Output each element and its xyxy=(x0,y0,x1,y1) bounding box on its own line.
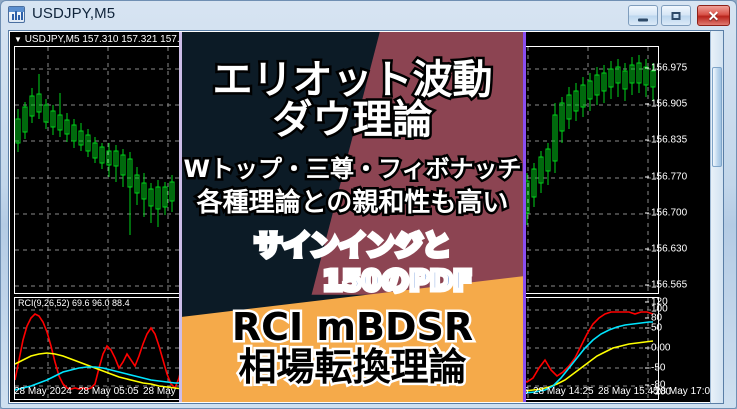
overlay-headline-1: エリオット波動 xyxy=(182,60,523,100)
candlestick-series xyxy=(16,74,174,235)
title-bar: USDJPY,M5 ✕ xyxy=(1,1,736,30)
promo-overlay-panel: エリオット波動 ダウ理論 Wトップ・三尊・フィボナッチ 各種理論との親和性も高い… xyxy=(179,32,526,402)
close-button[interactable]: ✕ xyxy=(697,5,730,26)
maximize-icon xyxy=(672,12,681,20)
overlay-cyan-text: サインインジと xyxy=(182,232,523,260)
close-icon: ✕ xyxy=(708,9,720,23)
overlay-blue-text: 150のPDF xyxy=(182,267,523,295)
scrollbar-thumb[interactable] xyxy=(712,67,722,167)
window-title: USDJPY,M5 xyxy=(32,5,115,22)
rci-axis: 120 100 80 50 0.00 -50 -80 -100 xyxy=(645,297,697,400)
minimize-button[interactable] xyxy=(628,5,658,26)
rci-header-label: RCI(9,26,52) 69.6 96.0 88.4 xyxy=(18,298,130,308)
overlay-footer-1: RCI mBDSR xyxy=(182,308,523,346)
metatrader-chart-icon xyxy=(8,6,25,23)
overlay-headline-2: ダウ理論 xyxy=(182,100,523,140)
vertical-scrollbar[interactable] xyxy=(710,31,723,403)
overlay-subtext-1: Wトップ・三尊・フィボナッチ xyxy=(182,157,523,181)
maximize-button[interactable] xyxy=(661,5,691,26)
chart-symbol-ohlc: USDJPY,M5 157.310 157.321 157. xyxy=(25,34,180,45)
chart-client-area: ▼ USDJPY,M5 157.310 157.321 157. xyxy=(8,30,724,404)
application-window: USDJPY,M5 ✕ ▼ USDJPY,M5 157.310 157.321 … xyxy=(0,0,737,409)
chart-dropdown-icon[interactable]: ▼ xyxy=(14,35,22,44)
overlay-footer-2: 相場転換理論 xyxy=(182,348,523,386)
price-chart[interactable]: ▼ USDJPY,M5 157.310 157.321 157. xyxy=(10,32,710,402)
overlay-subtext-2: 各種理論との親和性も高い xyxy=(182,190,523,216)
chart-header-label: ▼ USDJPY,M5 157.310 157.321 157. xyxy=(14,34,180,45)
minimize-icon xyxy=(638,18,648,21)
price-axis: 156.975 156.905 156.835 156.770 156.700 … xyxy=(645,46,697,294)
